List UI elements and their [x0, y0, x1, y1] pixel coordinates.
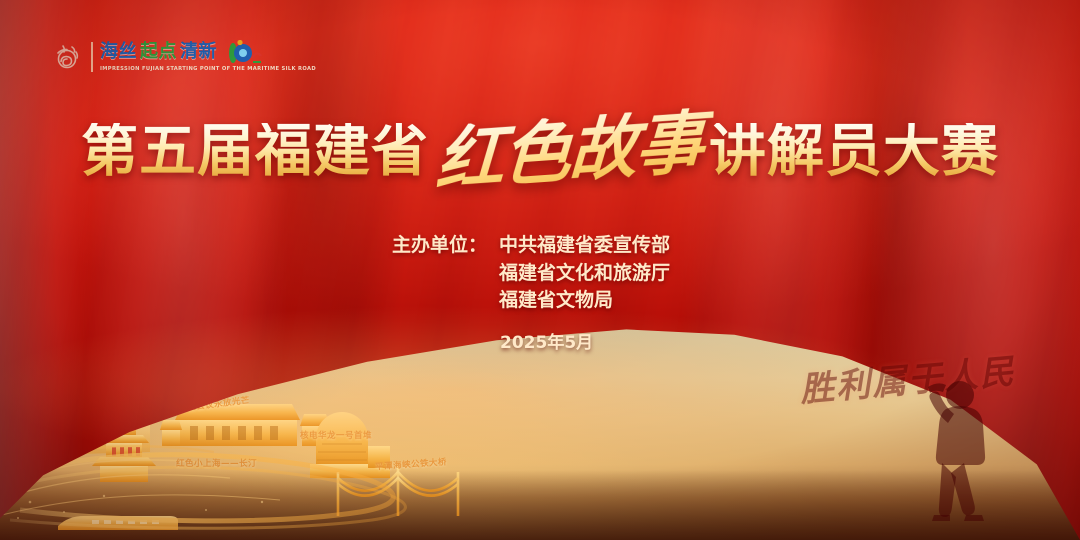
- main-title: 第五届福建省 红色故事 讲解员大赛: [0, 108, 1080, 194]
- fujian-tourism-logo: 海丝 起点 清新 IMPRESSION FUJIAN STARTING POIN…: [50, 33, 316, 81]
- fujian-tourism-mark-icon: [222, 40, 262, 64]
- title-suffix: 讲解员大赛: [709, 123, 999, 180]
- organizer-label: 主办单位：: [392, 232, 487, 315]
- event-date: 2025年5月: [500, 328, 593, 353]
- logo-english-text: IMPRESSION FUJIAN STARTING POINT OF THE …: [100, 67, 316, 72]
- poster-canvas: 寿宁下党 古田会议永放光芒 红色小上海——长汀 核电华龙一号首堆 平潭海峡公铁大…: [0, 0, 1080, 540]
- logo-chinese-text: 海丝 起点 清新: [100, 41, 316, 63]
- logo-word-qidian: 起点: [140, 43, 177, 61]
- title-prefix: 第五届福建省: [81, 123, 429, 180]
- fu-seal-icon: [50, 40, 84, 74]
- organizer-unit: 福建省文化和旅游厅: [499, 260, 670, 288]
- organizer-unit: 福建省文物局: [499, 287, 670, 315]
- organizer-list: 中共福建省委宣传部 福建省文化和旅游厅 福建省文物局: [499, 232, 670, 315]
- organizer-block: 主办单位： 中共福建省委宣传部 福建省文化和旅游厅 福建省文物局: [392, 232, 670, 315]
- logo-word-qingxin: 清新: [180, 43, 217, 61]
- bugler-silhouette-icon: [898, 365, 1018, 540]
- logo-divider: [91, 42, 93, 72]
- title-brush: 红色故事: [424, 106, 714, 195]
- organizer-unit: 中共福建省委宣传部: [499, 232, 670, 260]
- logo-word-haisi: 海丝: [100, 43, 137, 61]
